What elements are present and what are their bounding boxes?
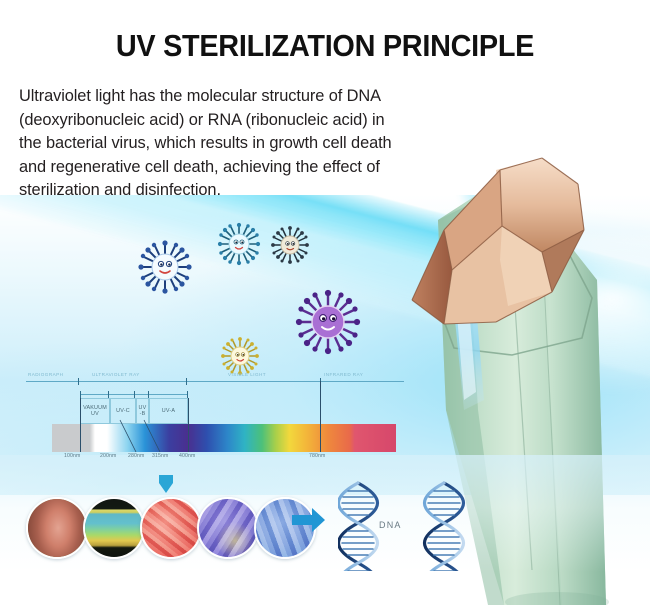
spectrum-chart: RADIOGRAPH ULTRAVIOLET RAY VISIBLE LIGHT… [24,372,406,468]
tissue-sample-photo [26,497,88,559]
right-arrow-icon [292,508,326,537]
virus-particle-yellow [220,336,260,376]
virus-particle-blue [137,239,193,295]
intro-line-4: and regenerative cell death, achieving t… [19,156,419,180]
purple-bacteria-photo [197,497,259,559]
intro-line-3: the bacterial virus, which results in gr… [19,132,419,156]
spectrum-leader-lines [24,372,406,468]
microscopy-photo-row [26,487,316,561]
page-title: UV STERILIZATION PRINCIPLE [23,28,628,64]
skin-cross-section-photo [83,497,145,559]
intro-line-1: Ultraviolet light has the molecular stru… [19,85,419,109]
red-bacteria-photo [140,497,202,559]
virus-particle-dark [270,225,310,265]
dna-illustration [338,481,488,571]
virus-particle-purple [294,288,362,356]
intro-paragraph: Ultraviolet light has the molecular stru… [19,85,419,203]
dna-label: DNA [379,520,402,530]
virus-particle-cyan [217,222,261,266]
infographic-root: UV STERILIZATION PRINCIPLE Ultraviolet l… [0,0,650,605]
intro-line-2: (deoxyribonucleic acid) or RNA (ribonucl… [19,109,419,133]
